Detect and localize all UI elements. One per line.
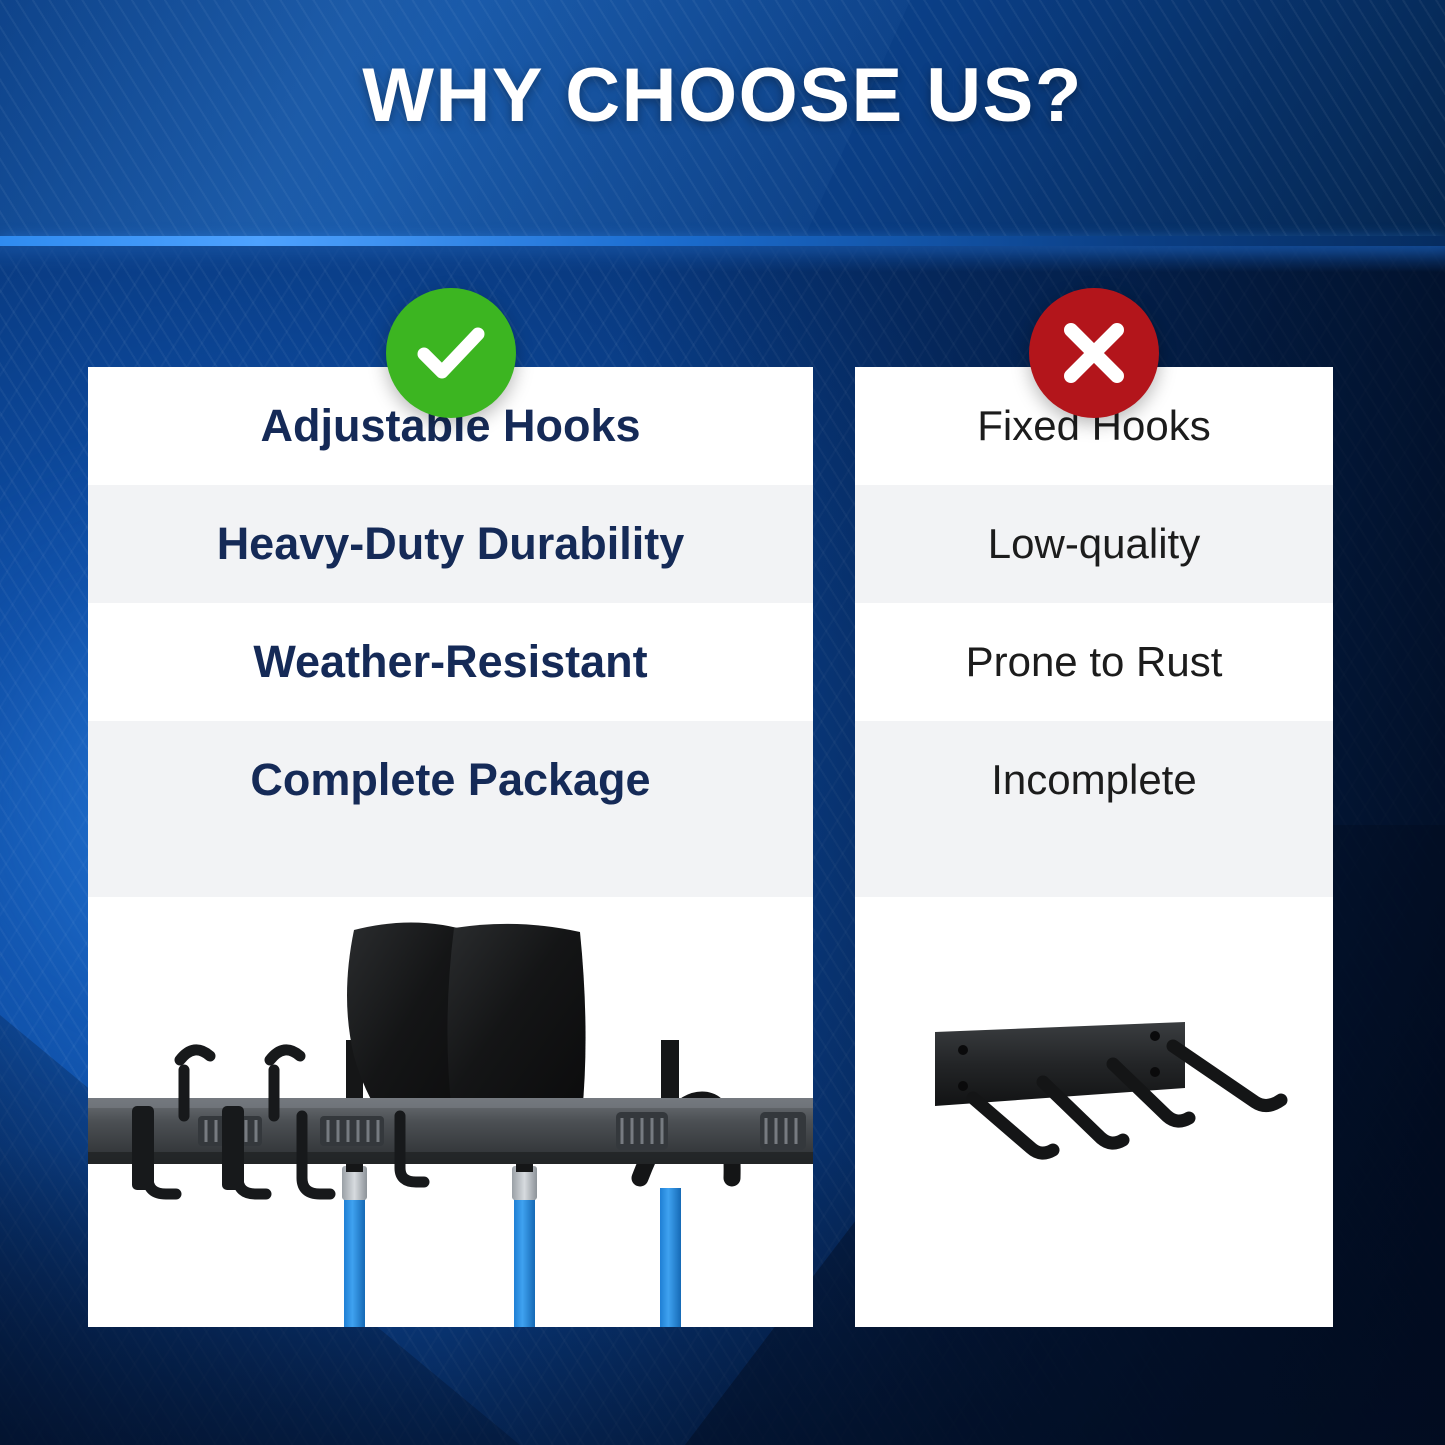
- left-product-image: [88, 920, 813, 1327]
- positive-row-3-label: Weather-Resistant: [253, 636, 647, 688]
- check-icon: [412, 314, 490, 392]
- positive-row-4-label: Complete Package: [250, 754, 650, 806]
- negative-row-3-label: Prone to Rust: [966, 638, 1223, 686]
- cross-icon: [1059, 318, 1129, 388]
- positive-row-2-label: Heavy-Duty Durability: [217, 518, 685, 570]
- negative-row-4-label: Incomplete: [991, 756, 1196, 804]
- positive-row-4: Complete Package: [88, 721, 813, 839]
- positive-row-3: Weather-Resistant: [88, 603, 813, 721]
- page-title: WHY CHOOSE US?: [0, 52, 1445, 139]
- shovel-blade-2: [447, 924, 585, 1121]
- negative-row-4: Incomplete: [855, 721, 1333, 839]
- positive-card-spacer: [88, 839, 813, 897]
- shovel-handle-3: [660, 1188, 681, 1327]
- header-divider-line: [0, 236, 1445, 246]
- negative-card-spacer: [855, 839, 1333, 897]
- shovel-handle-1: [344, 1188, 365, 1327]
- right-product-image: [855, 1020, 1333, 1220]
- negative-row-2-label: Low-quality: [988, 520, 1200, 568]
- negative-row-3: Prone to Rust: [855, 603, 1333, 721]
- poster-root: WHY CHOOSE US? Adjustable Hooks Heavy-Du…: [0, 0, 1445, 1445]
- negative-badge: [1029, 288, 1159, 418]
- header-divider-glow: [0, 246, 1445, 272]
- positive-row-2: Heavy-Duty Durability: [88, 485, 813, 603]
- positive-badge: [386, 288, 516, 418]
- negative-row-2: Low-quality: [855, 485, 1333, 603]
- shovel-handle-2: [514, 1188, 535, 1327]
